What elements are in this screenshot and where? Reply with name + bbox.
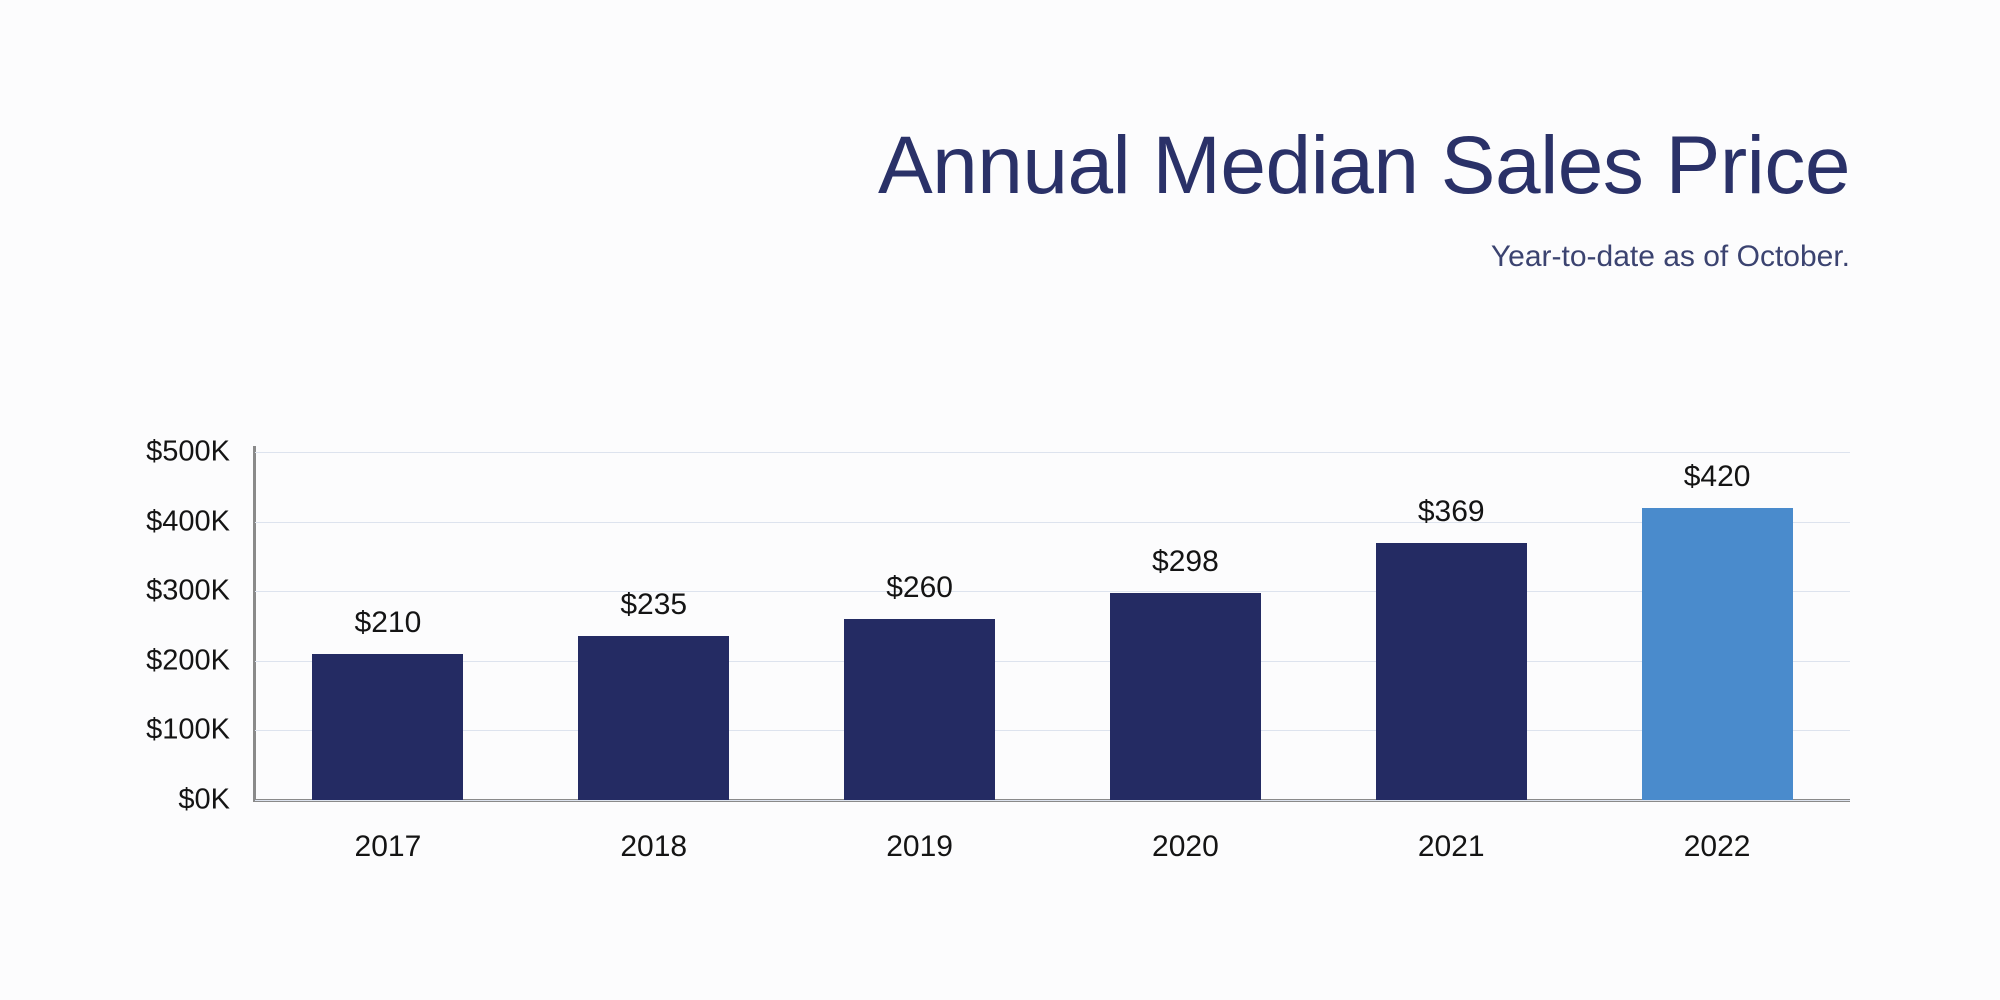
bar-group[interactable]: $3692021 (1376, 452, 1527, 800)
x-axis-tick-label: 2021 (1418, 830, 1485, 864)
y-axis-tick-label: $0K (60, 784, 230, 817)
bar-group[interactable]: $4202022 (1642, 452, 1793, 800)
plot-area: $2102017$2352018$2602019$2982020$3692021… (255, 452, 1850, 800)
chart-plot: $0K$100K$200K$300K$400K$500K $2102017$23… (0, 0, 2000, 1000)
bar-value-label: $210 (355, 606, 422, 640)
gridline (255, 452, 1850, 453)
y-axis-tick-label: $500K (60, 436, 230, 469)
bar-group[interactable]: $2982020 (1110, 452, 1261, 800)
x-axis-tick-label: 2022 (1684, 830, 1751, 864)
bar-group[interactable]: $2102017 (312, 452, 463, 800)
bar-value-label: $420 (1684, 460, 1751, 494)
gridline (255, 522, 1850, 523)
bar-value-label: $369 (1418, 495, 1485, 529)
bar-group[interactable]: $2352018 (578, 452, 729, 800)
bar-2019[interactable] (844, 619, 995, 800)
bar-2020[interactable] (1110, 593, 1261, 800)
x-axis-tick-label: 2020 (1152, 830, 1219, 864)
gridline (255, 800, 1850, 801)
bar-value-label: $260 (886, 571, 953, 605)
x-axis-tick-label: 2018 (620, 830, 687, 864)
bar-group[interactable]: $2602019 (844, 452, 995, 800)
y-axis-tick-labels: $0K$100K$200K$300K$400K$500K (60, 0, 230, 1000)
y-axis-tick-label: $200K (60, 644, 230, 677)
x-axis-tick-label: 2019 (886, 830, 953, 864)
y-axis-tick-label: $100K (60, 714, 230, 747)
bar-2022[interactable] (1642, 508, 1793, 800)
y-axis-tick-label: $300K (60, 575, 230, 608)
x-axis-tick-label: 2017 (355, 830, 422, 864)
y-axis-tick-label: $400K (60, 505, 230, 538)
gridline (255, 591, 1850, 592)
gridline (255, 730, 1850, 731)
bar-2017[interactable] (312, 654, 463, 800)
bar-2021[interactable] (1376, 543, 1527, 800)
chart-page: Annual Median Sales Price Year-to-date a… (0, 0, 2000, 1000)
gridline (255, 661, 1850, 662)
bar-value-label: $298 (1152, 545, 1219, 579)
bar-value-label: $235 (620, 588, 687, 622)
bar-2018[interactable] (578, 636, 729, 800)
